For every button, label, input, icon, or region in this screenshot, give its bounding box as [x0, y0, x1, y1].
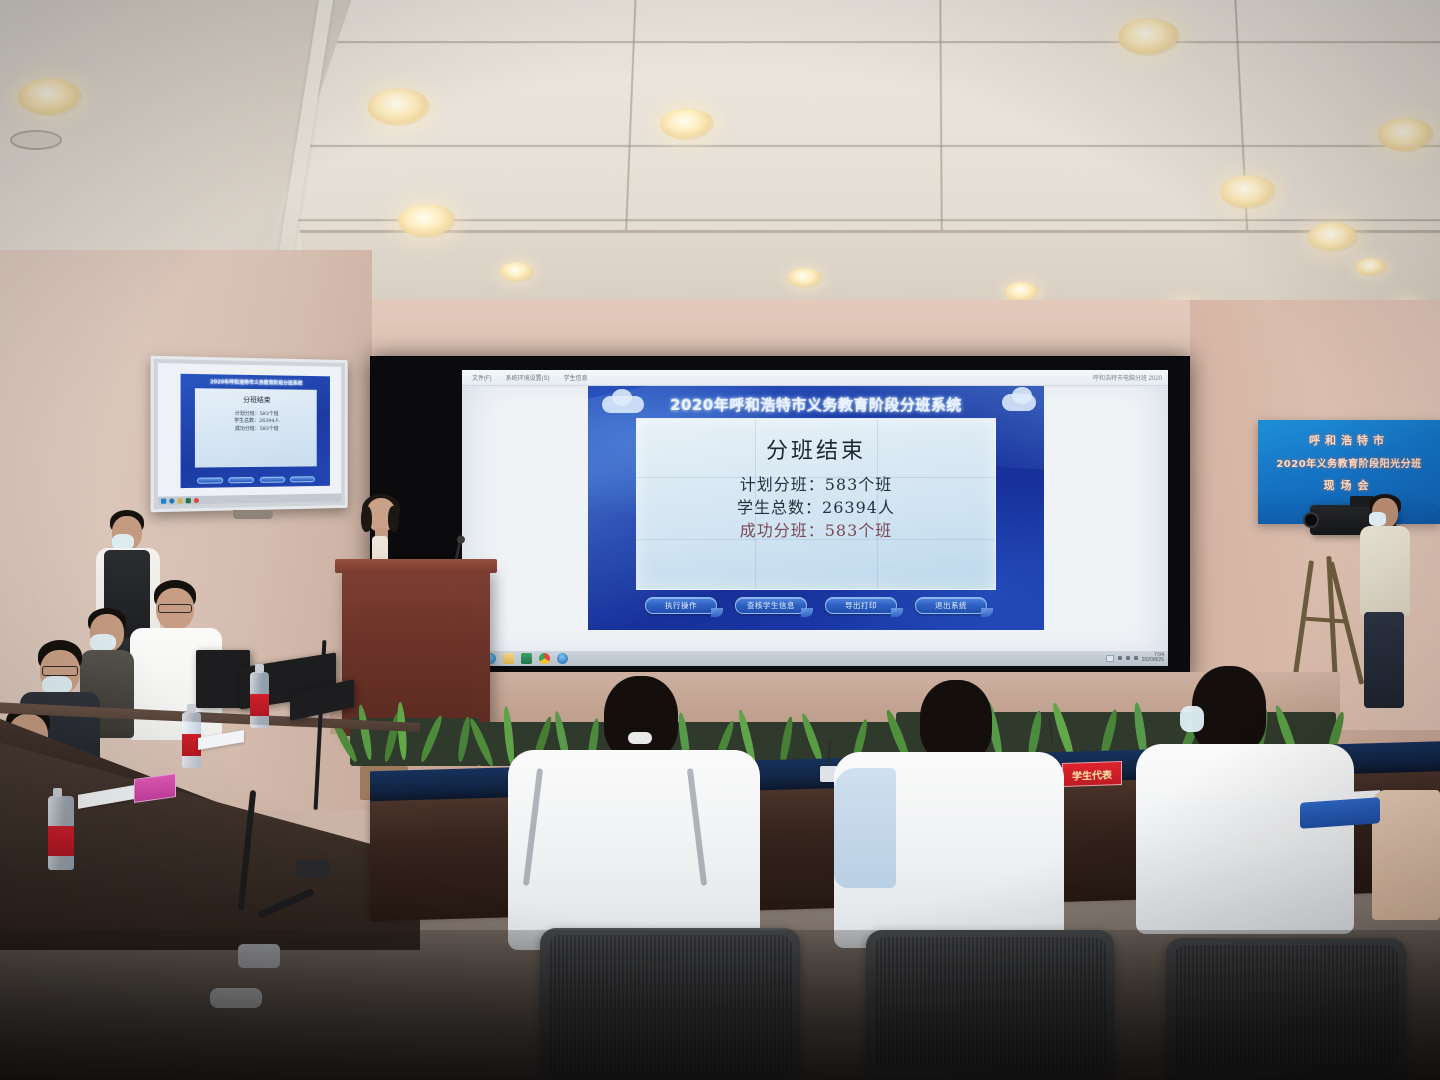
- chrome-icon[interactable]: [539, 653, 550, 664]
- bottle-label: [250, 694, 269, 716]
- taskbar-clock[interactable]: 7:04 2020/8/26: [1142, 653, 1164, 663]
- led-banner-line2: 2020年义务教育阶段阳光分班: [1258, 455, 1440, 470]
- camera-lens-icon: [1303, 512, 1319, 528]
- button-shadow: [801, 608, 813, 617]
- clock-date: 2020/8/26: [1142, 658, 1164, 663]
- folder-icon[interactable]: [503, 653, 514, 664]
- attendee-arm: [1372, 790, 1440, 920]
- check-student-info-label: 查核学生信息: [747, 600, 795, 611]
- window-caption: 呼和浩特市电脑分班 2020: [1093, 373, 1162, 382]
- water-bottle: [48, 796, 74, 870]
- white-top: [1136, 744, 1354, 934]
- hair-side: [388, 506, 399, 532]
- left-monitor-screen: 2020年呼和浩特市义务教育阶段分班系统 分班结束 计划分班：583个班 学生总…: [158, 363, 341, 505]
- execute-operation-button[interactable]: 执行操作: [645, 597, 717, 614]
- button-shadow: [981, 608, 993, 617]
- monitor-wall-mount: [233, 510, 273, 519]
- result-panel: 分班结束 计划分班：583个班 学生总数：26394人 成功分班：583个班: [636, 418, 996, 590]
- result-line-planned: 计划分班：583个班: [637, 473, 995, 496]
- downlight-icon: [1220, 175, 1276, 209]
- result-title: 分班结束: [637, 433, 995, 465]
- left-monitor-buttons: [197, 476, 315, 484]
- window-menubar[interactable]: 文件(F) 系统环境设置(S) 学生信息 呼和浩特市电脑分班 2020: [462, 370, 1168, 386]
- foreground-shadow: [0, 930, 1440, 1080]
- cameraman: [1352, 498, 1422, 708]
- torso: [1360, 526, 1410, 616]
- internet-explorer-icon: [169, 498, 174, 503]
- downlight-icon: [398, 204, 456, 238]
- button-shadow: [711, 608, 723, 617]
- result-value-total: 26394人: [822, 498, 895, 517]
- system-tray[interactable]: 7:04 2020/8/26: [1106, 653, 1164, 663]
- office-icon[interactable]: [521, 653, 532, 664]
- left-monitor-taskbar: [158, 493, 341, 505]
- exit-system-label: 退出系统: [935, 600, 967, 611]
- menu-item-settings[interactable]: 系统环境设置(S): [506, 373, 550, 382]
- start-icon: [161, 498, 166, 503]
- app-button-bar: 执行操作 查核学生信息 导出打印 退出系统: [636, 592, 996, 618]
- water-bottle: [250, 672, 269, 728]
- left-monitor-button-1: [197, 477, 223, 483]
- left-monitor-button-3: [260, 477, 285, 483]
- left-monitor-app: 2020年呼和浩特市义务教育阶段分班系统 分班结束 计划分班：583个班 学生总…: [181, 374, 330, 488]
- bottle-label: [48, 826, 74, 856]
- chrome-icon: [194, 497, 199, 502]
- result-label-success: 成功分班：: [740, 521, 825, 540]
- result-line-total: 学生总数：26394人: [637, 496, 995, 519]
- tray-ime-icon[interactable]: [1134, 656, 1138, 660]
- legs: [1364, 612, 1404, 708]
- left-monitor-app-title: 2020年呼和浩特市义务教育阶段分班系统: [181, 378, 330, 387]
- result-line-success: 成功分班：583个班: [637, 519, 995, 542]
- projection-screen: 文件(F) 系统环境设置(S) 学生信息 呼和浩特市电脑分班 2020 2020…: [462, 370, 1168, 666]
- downlight-icon: [18, 78, 82, 116]
- downlight-icon: [788, 268, 822, 288]
- result-value-planned: 583个班: [825, 475, 893, 494]
- vent-icon: [10, 130, 62, 150]
- exit-system-button[interactable]: 退出系统: [915, 597, 987, 614]
- face-mask-icon: [1180, 706, 1204, 732]
- left-monitor-panel: 分班结束 计划分班：583个班 学生总数：26394人 成功分班：583个班: [195, 388, 317, 467]
- menu-item-students[interactable]: 学生信息: [564, 373, 588, 382]
- podium-top: [335, 559, 497, 573]
- ceiling-panel-grid: [286, 0, 1440, 263]
- downlight-icon: [1355, 258, 1387, 276]
- result-label-total: 学生总数：: [737, 498, 822, 517]
- student-name-card-label: 学生代表: [1072, 766, 1112, 782]
- hair-tie: [628, 732, 652, 744]
- downlight-icon: [368, 88, 430, 126]
- downlight-icon: [1118, 18, 1180, 56]
- left-monitor-button-2: [229, 477, 255, 483]
- export-print-label: 导出打印: [845, 600, 877, 611]
- led-banner-line1: 呼和浩特市: [1258, 432, 1440, 448]
- folder-icon: [178, 498, 183, 503]
- glasses-icon: [158, 604, 192, 613]
- office-icon: [186, 498, 191, 503]
- tray-network-icon[interactable]: [1118, 656, 1122, 660]
- downlight-icon: [1005, 282, 1039, 302]
- downlight-icon: [1308, 222, 1358, 252]
- tray-volume-icon[interactable]: [1126, 656, 1130, 660]
- app-title: 2020年呼和浩特市义务教育阶段分班系统: [588, 394, 1044, 415]
- downlight-icon: [660, 108, 714, 140]
- button-shadow: [891, 608, 903, 617]
- student-name-card: 学生代表: [1062, 761, 1122, 787]
- face-mask-icon: [1369, 512, 1386, 526]
- result-lines: 计划分班：583个班 学生总数：26394人 成功分班：583个班: [637, 473, 995, 542]
- app-icon[interactable]: [557, 653, 568, 664]
- glasses-icon: [42, 666, 78, 676]
- conference-hall-photo: 文件(F) 系统环境设置(S) 学生信息 呼和浩特市电脑分班 2020 2020…: [0, 0, 1440, 1080]
- windows-taskbar[interactable]: 7:04 2020/8/26: [462, 651, 1168, 666]
- tray-window-icon[interactable]: [1106, 655, 1114, 662]
- student-representative: [834, 680, 1064, 970]
- check-student-info-button[interactable]: 查核学生信息: [735, 597, 807, 614]
- power-strip: [296, 860, 330, 878]
- menu-item-file[interactable]: 文件(F): [472, 373, 492, 382]
- result-label-planned: 计划分班：: [740, 475, 825, 494]
- white-jacket: [508, 750, 760, 950]
- left-wall-monitor: 2020年呼和浩特市义务教育阶段分班系统 分班结束 计划分班：583个班 学生总…: [151, 356, 348, 513]
- class-assignment-app: 2020年呼和浩特市义务教育阶段分班系统 分班结束 计划分班：583个班 学生总…: [588, 386, 1044, 630]
- execute-operation-label: 执行操作: [665, 600, 697, 611]
- light-blue-sleeve: [834, 768, 896, 888]
- hair-side: [361, 506, 372, 532]
- downlight-icon: [500, 262, 534, 282]
- left-monitor-button-4: [290, 476, 315, 482]
- export-print-button[interactable]: 导出打印: [825, 597, 897, 614]
- result-value-success: 583个班: [825, 521, 893, 540]
- downlight-icon: [1378, 118, 1434, 152]
- left-monitor-line-3: 成功分班：583个班: [195, 425, 317, 432]
- left-monitor-result-title: 分班结束: [195, 394, 317, 405]
